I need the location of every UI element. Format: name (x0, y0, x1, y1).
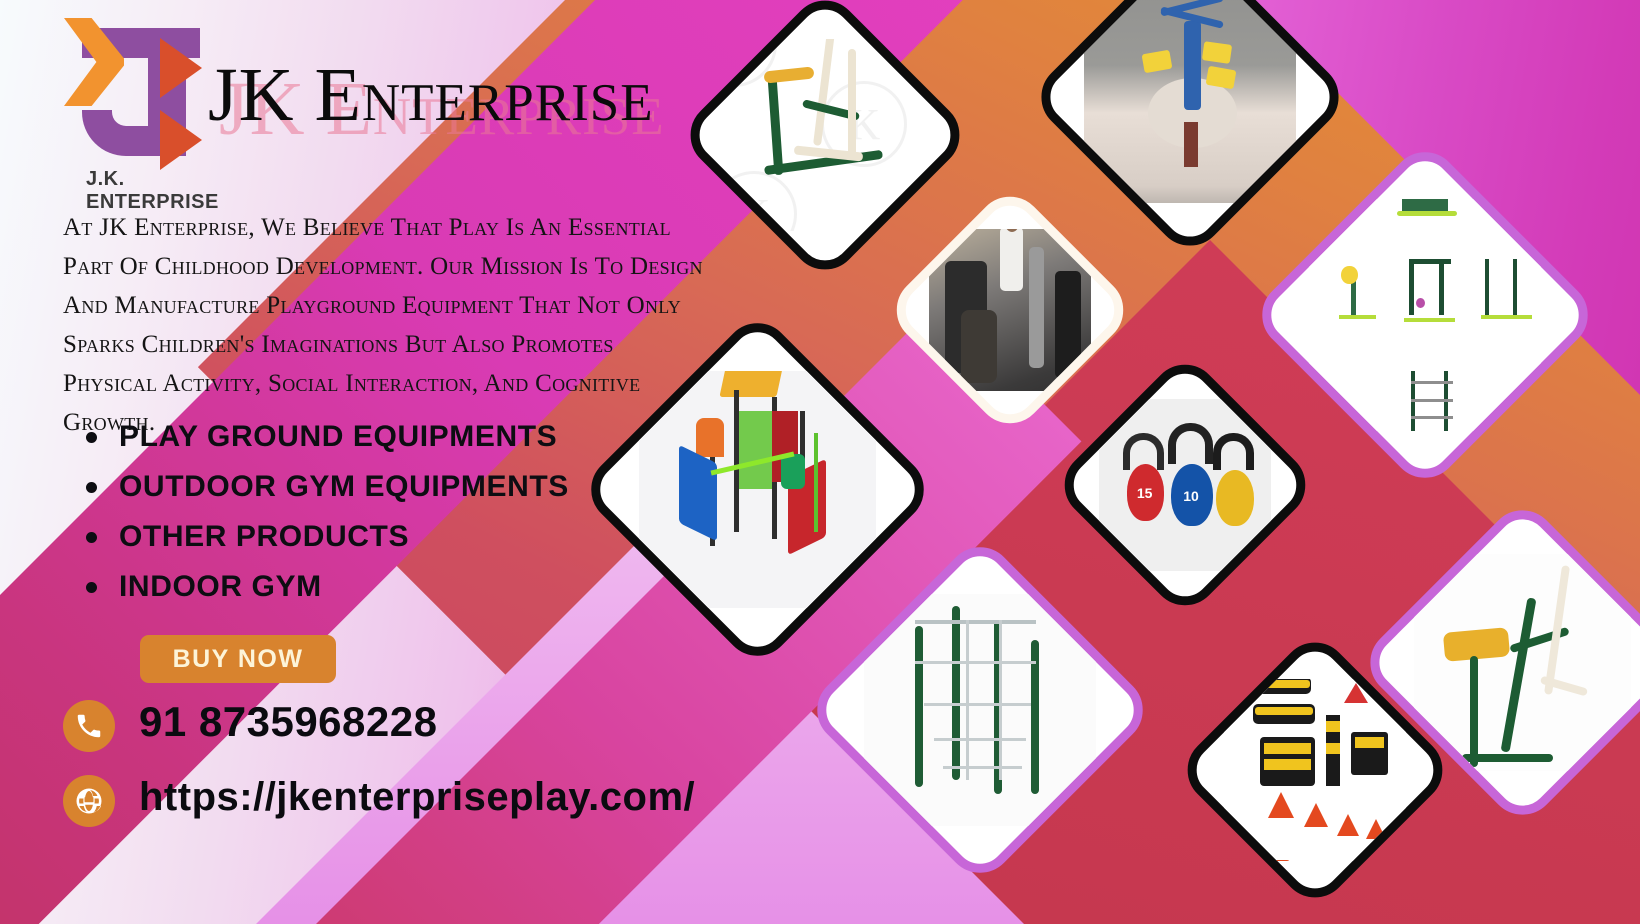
kettlebell-weight-red: 15 (1137, 485, 1153, 501)
company-logo: J.K. ENTERPRISE (64, 18, 214, 198)
photo-indoor-gym (929, 229, 1091, 391)
list-item[interactable]: OUTDOOR GYM EQUIPMENTS (86, 470, 569, 504)
page-title: JK Enterprise (208, 52, 654, 139)
bullet-dot-icon (86, 432, 97, 443)
logo-chevron-red-lower (160, 110, 202, 170)
logo-chevron-red-upper (160, 38, 202, 98)
list-item[interactable]: PLAY GROUND EQUIPMENTS (86, 420, 569, 454)
intro-paragraph: At JK Enterprise, We Believe That Play I… (63, 208, 703, 442)
promo-banner: KKK (0, 0, 1640, 924)
list-item-label: OTHER PRODUCTS (119, 520, 409, 554)
website-url: https://jkenterpriseplay.com/ (139, 775, 695, 820)
list-item-label: PLAY GROUND EQUIPMENTS (119, 420, 557, 454)
logo-mark-icon: J.K. ENTERPRISE (64, 18, 214, 198)
left-content-column: J.K. ENTERPRISE JK Enterprise At JK Ente… (0, 0, 800, 924)
photo-climbing-frame (864, 594, 1096, 826)
photo-outdoor-gym-collage (1309, 199, 1541, 431)
kettlebell-weight-blue: 10 (1183, 488, 1199, 504)
photo-road-safety-products (1224, 679, 1406, 861)
bullet-dot-icon (86, 582, 97, 593)
photo-merry-go-round (1084, 0, 1296, 203)
photo-outdoor-gym-rider-2 (1414, 554, 1631, 771)
product-category-list: PLAY GROUND EQUIPMENTS OUTDOOR GYM EQUIP… (86, 420, 569, 620)
list-item-label: OUTDOOR GYM EQUIPMENTS (119, 470, 569, 504)
list-item[interactable]: INDOOR GYM (86, 570, 569, 604)
phone-number: 91 8735968228 (139, 698, 437, 746)
logo-j-hook (82, 110, 152, 156)
list-item-label: INDOOR GYM (119, 570, 322, 604)
phone-icon (63, 700, 115, 752)
photo-kettlebells: 15 10 (1099, 399, 1271, 571)
bullet-dot-icon (86, 532, 97, 543)
globe-icon (63, 775, 115, 827)
list-item[interactable]: OTHER PRODUCTS (86, 520, 569, 554)
buy-now-button[interactable]: BUY NOW (140, 635, 336, 683)
bullet-dot-icon (86, 482, 97, 493)
